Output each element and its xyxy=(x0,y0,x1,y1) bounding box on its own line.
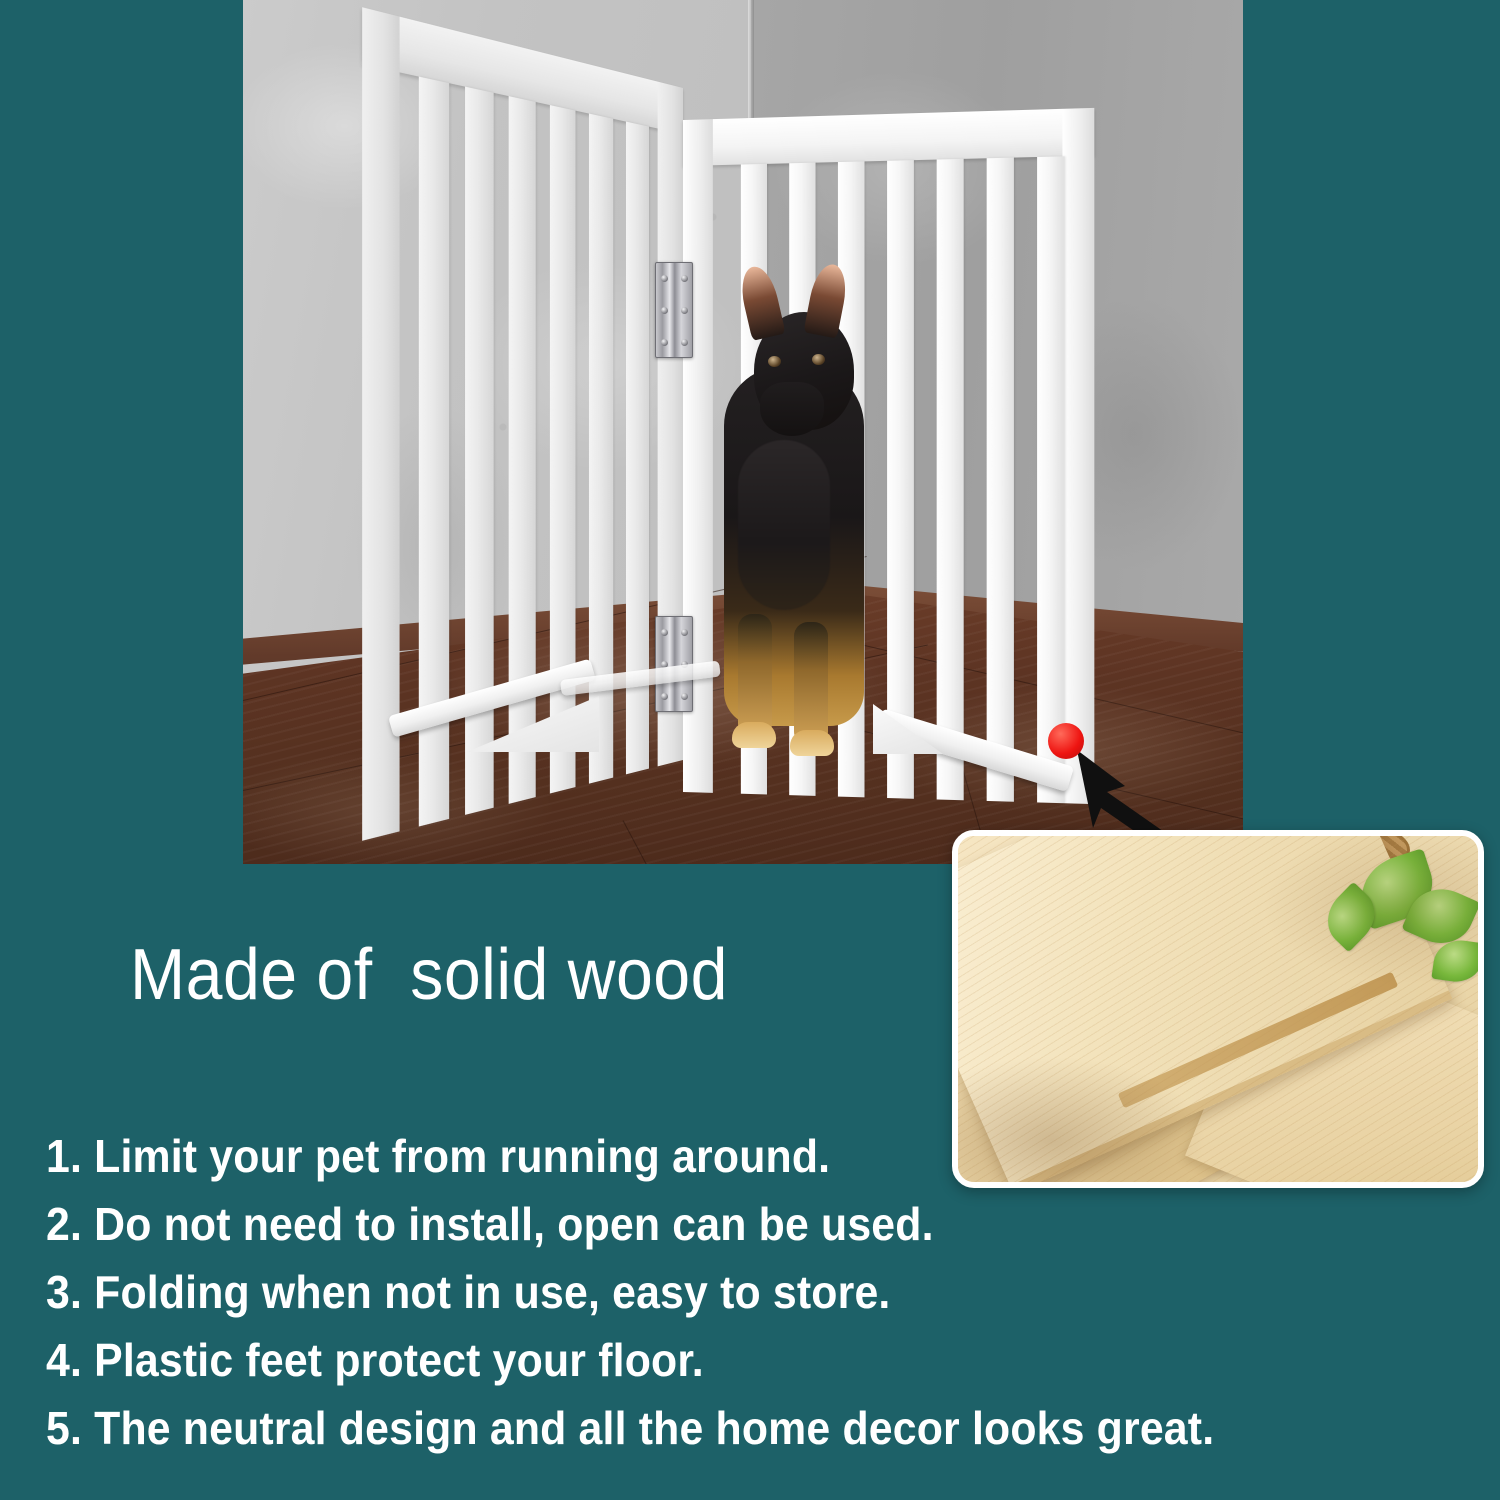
dog-eye-left xyxy=(768,356,781,367)
hinge-screw xyxy=(681,629,688,636)
dog-ear-left xyxy=(736,263,785,341)
gate-foot-center xyxy=(561,662,741,712)
hinge-screw xyxy=(661,629,668,636)
hinge-screw xyxy=(661,307,668,314)
gate-top-rail-right xyxy=(683,108,1094,166)
page-headline: Made of solid wood xyxy=(130,934,728,1016)
hinge-screw xyxy=(681,339,688,346)
hinge-screw xyxy=(661,339,668,346)
feature-item-5: 5. The neutral design and all the home d… xyxy=(46,1394,1367,1462)
dog-eye-right xyxy=(812,354,825,365)
hinge-screw xyxy=(681,275,688,282)
gate-hinge-upper xyxy=(655,262,693,358)
dog-front-leg-right xyxy=(794,622,828,742)
dog-ear-right xyxy=(803,261,850,338)
feature-item-4: 4. Plastic feet protect your floor. xyxy=(46,1326,1367,1394)
hero-product-photo xyxy=(243,0,1243,864)
hinge-screw xyxy=(681,307,688,314)
dog-chest xyxy=(738,440,830,610)
solid-wood-detail-inset xyxy=(952,830,1484,1188)
feature-item-3: 3. Folding when not in use, easy to stor… xyxy=(46,1258,1367,1326)
dog-paw-left xyxy=(732,722,776,748)
foot-bar xyxy=(560,661,721,696)
dog-muzzle xyxy=(760,382,824,436)
feature-item-2: 2. Do not need to install, open can be u… xyxy=(46,1190,1367,1258)
hinge-screw xyxy=(661,275,668,282)
red-highlight-dot xyxy=(1048,723,1084,759)
dog-paw-right xyxy=(790,730,834,756)
dog-front-leg-left xyxy=(738,614,772,734)
